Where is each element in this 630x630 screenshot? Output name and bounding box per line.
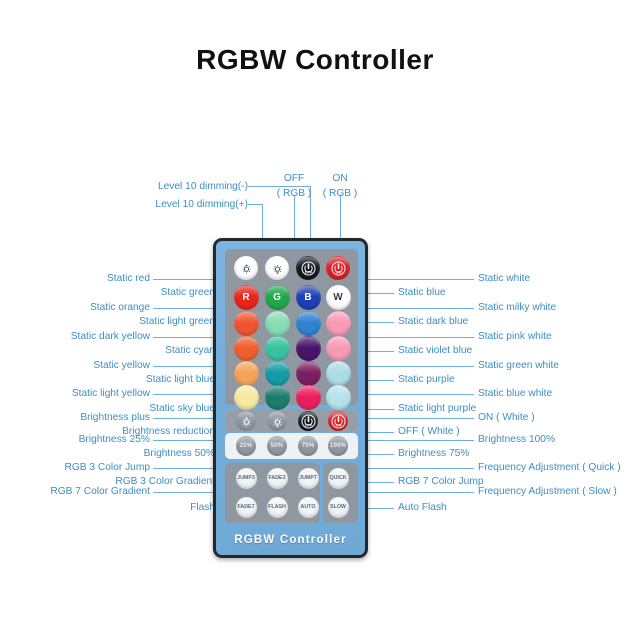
callout-static-yellow-text: Static yellow [93, 360, 150, 371]
callout-static-blue-white-text: Static blue white [478, 388, 552, 399]
callout-static-cyan-text: Static cyan [165, 345, 215, 356]
callout-frequency-quick: Frequency Adjustment ( Quick ) [478, 463, 621, 473]
btn-white-off[interactable]: OFF [298, 411, 318, 431]
callout-on-rgb-line1: ON [318, 174, 362, 184]
leader-line [366, 508, 394, 509]
leader-line [153, 394, 216, 395]
leader-line [366, 418, 474, 419]
btn-fade3[interactable]: FADE3 [267, 468, 288, 489]
callout-brightness-100-text: Brightness 100% [478, 434, 555, 445]
button-gloss [236, 337, 257, 348]
leader-line [153, 337, 216, 338]
diagram-canvas: RGBW Controller Level 10 dimming(-) Leve… [0, 0, 630, 630]
button-gloss [267, 312, 288, 323]
svg-text:OFF: OFF [304, 423, 312, 427]
callout-static-light-blue: Static light blue [0, 375, 215, 385]
btn-static-white-label: W [333, 292, 342, 303]
callout-static-dark-yellow-text: Static dark yellow [71, 331, 150, 342]
svg-text:ON: ON [335, 423, 341, 427]
leader-line [366, 293, 394, 294]
callout-static-light-blue-text: Static light blue [146, 374, 215, 385]
btn-slow-label: SLOW [330, 504, 346, 510]
callout-static-green-text: Static green [161, 287, 215, 298]
callout-rgb7-color-jump-text: RGB 7 Color Jump [398, 476, 484, 487]
callout-brightness-plus: Brightness plus [0, 413, 150, 423]
callout-brightness-100: Brightness 100% [478, 435, 555, 445]
callout-static-green: Static green [0, 288, 215, 298]
callout-static-violet-blue-text: Static violet blue [398, 345, 472, 356]
button-gloss [236, 312, 257, 323]
btn-brightness-50-label: 50% [271, 443, 284, 449]
leader-line [366, 308, 474, 309]
btn-fade7-label: FADE7 [237, 504, 254, 510]
callout-flash-text: Flash [190, 502, 215, 513]
btn-static-cyan[interactable] [265, 336, 290, 361]
btn-jump7-label: JUMP7 [299, 475, 317, 481]
btn-static-blue[interactable]: B [296, 285, 321, 310]
callout-static-blue-white: Static blue white [478, 389, 552, 399]
btn-static-green[interactable]: G [265, 285, 290, 310]
btn-brightness-plus[interactable] [236, 411, 256, 431]
button-gloss [298, 386, 319, 397]
leader-line [366, 380, 394, 381]
callout-static-milky-white-text: Static milky white [478, 302, 556, 313]
leader-line [153, 468, 216, 469]
leader-line [153, 418, 216, 419]
page-title: RGBW Controller [0, 44, 630, 76]
callout-static-light-purple: Static light purple [398, 404, 476, 414]
leader-line [366, 432, 394, 433]
callout-on-rgb: ON ( RGB ) [318, 174, 362, 199]
callout-off-white-text: OFF ( White ) [398, 426, 460, 437]
button-gloss [298, 337, 319, 348]
btn-static-light-yellow[interactable] [234, 385, 259, 410]
leader-line [366, 409, 394, 410]
btn-brightness-reduction[interactable] [267, 411, 287, 431]
callout-static-dark-yellow: Static dark yellow [0, 332, 150, 342]
button-gloss [328, 337, 349, 348]
btn-jump3[interactable]: JUMP3 [236, 468, 257, 489]
button-gloss [267, 362, 288, 373]
btn-static-violet-blue[interactable] [296, 336, 321, 361]
leader-line [366, 337, 474, 338]
callout-on-rgb-line2: ( RGB ) [318, 189, 362, 199]
callout-off-rgb-line2: ( RGB ) [272, 189, 316, 199]
remote-brand-label: RGBW Controller [216, 534, 365, 546]
callout-static-red-text: Static red [107, 273, 150, 284]
callout-static-green-white: Static green white [478, 361, 559, 371]
btn-static-white[interactable]: W [326, 285, 351, 310]
leader-line [366, 492, 474, 493]
remote-control-body: OFF ON RGBW OFF ON 25%50%75%100%JUMP3FAD… [213, 238, 368, 558]
leader-line [366, 322, 394, 323]
svg-text:ON: ON [335, 270, 341, 274]
callout-level10-dimming-minus: Level 10 dimming(-) [0, 182, 248, 192]
btn-static-pink-white[interactable] [326, 336, 351, 361]
btn-static-red-label: R [242, 292, 249, 303]
button-gloss [328, 312, 349, 323]
callout-static-sky-blue-text: Static sky blue [149, 403, 215, 414]
btn-dimming-plus[interactable] [234, 256, 258, 280]
btn-jump7[interactable]: JUMP7 [298, 468, 319, 489]
callout-static-violet-blue: Static violet blue [398, 346, 472, 356]
btn-static-blue-white[interactable] [326, 385, 351, 410]
callout-static-pink-white-text: Static pink white [478, 331, 552, 342]
callout-on-white: ON ( White ) [478, 413, 535, 423]
btn-flash-label: FLASH [268, 504, 286, 510]
callout-static-green-white-text: Static green white [478, 360, 559, 371]
callout-static-blue: Static blue [398, 288, 446, 298]
callout-off-white: OFF ( White ) [398, 427, 460, 437]
callout-frequency-slow: Frequency Adjustment ( Slow ) [478, 487, 617, 497]
leader-line [248, 204, 262, 205]
btn-static-light-blue[interactable] [265, 361, 290, 386]
callout-rgb7-color-gradient-text: RGB 7 Color Gradient [50, 486, 150, 497]
callout-static-cyan: Static cyan [0, 346, 215, 356]
callout-static-light-yellow-text: Static light yellow [72, 388, 150, 399]
callout-static-purple: Static purple [398, 375, 455, 385]
btn-static-red[interactable]: R [234, 285, 259, 310]
button-gloss [328, 386, 349, 397]
callout-frequency-slow-text: Frequency Adjustment ( Slow ) [478, 486, 617, 497]
btn-auto-label: AUTO [301, 504, 316, 510]
callout-static-light-yellow: Static light yellow [0, 389, 150, 399]
btn-static-purple[interactable] [296, 361, 321, 386]
button-gloss [236, 362, 257, 373]
callout-frequency-quick-text: Frequency Adjustment ( Quick ) [478, 462, 621, 473]
callout-brightness-25: Brightness 25% [0, 435, 150, 445]
callout-static-white: Static white [478, 274, 530, 284]
callout-rgb7-color-gradient: RGB 7 Color Gradient [0, 487, 150, 497]
btn-rgb-on[interactable]: ON [326, 256, 350, 280]
btn-brightness-50[interactable]: 50% [267, 436, 287, 456]
btn-brightness-100[interactable]: 100% [328, 436, 348, 456]
button-gloss [298, 312, 319, 323]
btn-brightness-75[interactable]: 75% [298, 436, 318, 456]
callout-static-light-green-text: Static light green [139, 316, 215, 327]
btn-static-orange[interactable] [234, 311, 259, 336]
btn-brightness-25[interactable]: 25% [236, 436, 256, 456]
callout-rgb7-color-jump: RGB 7 Color Jump [398, 477, 484, 487]
leader-line [153, 279, 216, 280]
callout-static-red: Static red [0, 274, 150, 284]
callout-brightness-50-text: Brightness 50% [144, 448, 215, 459]
callout-rgb3-color-jump: RGB 3 Color Jump [0, 463, 150, 473]
button-gloss [267, 337, 288, 348]
leader-line [153, 308, 216, 309]
btn-static-light-purple[interactable] [296, 385, 321, 410]
btn-white-on[interactable]: ON [328, 411, 348, 431]
leader-line [366, 351, 394, 352]
leader-line [153, 366, 216, 367]
btn-flash[interactable]: FLASH [267, 497, 288, 518]
callout-on-white-text: ON ( White ) [478, 412, 535, 423]
callout-brightness-plus-text: Brightness plus [80, 412, 150, 423]
callout-static-orange-text: Static orange [90, 302, 150, 313]
callout-static-yellow: Static yellow [0, 361, 150, 371]
button-gloss [298, 362, 319, 373]
callout-static-blue-text: Static blue [398, 287, 446, 298]
leader-line [366, 454, 394, 455]
btn-quick-label: QUICK [329, 475, 346, 481]
btn-static-green-white[interactable] [326, 361, 351, 386]
button-gloss [236, 386, 257, 397]
callout-brightness-50: Brightness 50% [0, 449, 215, 459]
callout-auto-flash-text: Auto Flash [398, 502, 447, 513]
callout-flash: Flash [0, 503, 215, 513]
leader-line [366, 468, 474, 469]
callout-level10-dimming-plus: Level 10 dimming(+) [0, 200, 248, 210]
callout-auto-flash: Auto Flash [398, 503, 447, 513]
btn-brightness-100-label: 100% [330, 443, 346, 449]
callout-off-rgb-line1: OFF [272, 174, 316, 184]
leader-line [366, 394, 474, 395]
btn-fade3-label: FADE3 [268, 475, 285, 481]
callout-brightness-75-text: Brightness 75% [398, 448, 469, 459]
btn-static-green-label: G [273, 292, 281, 303]
callout-static-orange: Static orange [0, 303, 150, 313]
btn-static-sky-blue[interactable] [265, 385, 290, 410]
btn-rgb-off[interactable]: OFF [296, 256, 320, 280]
btn-fade7[interactable]: FADE7 [236, 497, 257, 518]
callout-brightness-75: Brightness 75% [398, 449, 469, 459]
btn-brightness-75-label: 75% [302, 443, 315, 449]
btn-static-light-green[interactable] [265, 311, 290, 336]
leader-line [366, 440, 474, 441]
btn-dimming-minus[interactable] [265, 256, 289, 280]
callout-static-light-purple-text: Static light purple [398, 403, 476, 414]
svg-text:OFF: OFF [304, 270, 312, 274]
leader-line [366, 279, 474, 280]
leader-line [366, 366, 474, 367]
btn-static-dark-blue[interactable] [296, 311, 321, 336]
callout-off-rgb: OFF ( RGB ) [272, 174, 316, 199]
callout-rgb3-color-jump-text: RGB 3 Color Jump [65, 462, 151, 473]
callout-static-milky-white: Static milky white [478, 303, 556, 313]
btn-static-blue-label: B [304, 292, 311, 303]
button-gloss [328, 362, 349, 373]
callout-static-light-green: Static light green [0, 317, 215, 327]
callout-static-white-text: Static white [478, 273, 530, 284]
btn-auto[interactable]: AUTO [298, 497, 319, 518]
leader-line [366, 482, 394, 483]
btn-slow[interactable]: SLOW [328, 497, 349, 518]
leader-line [153, 492, 216, 493]
callout-static-dark-blue: Static dark blue [398, 317, 468, 327]
callout-static-dark-blue-text: Static dark blue [398, 316, 468, 327]
callout-brightness-25-text: Brightness 25% [79, 434, 150, 445]
callout-static-purple-text: Static purple [398, 374, 455, 385]
btn-jump3-label: JUMP3 [237, 475, 255, 481]
btn-brightness-25-label: 25% [240, 443, 253, 449]
btn-static-milky-white[interactable] [326, 311, 351, 336]
btn-quick[interactable]: QUICK [328, 468, 349, 489]
leader-line [153, 440, 216, 441]
btn-static-yellow[interactable] [234, 361, 259, 386]
button-gloss [267, 386, 288, 397]
btn-static-dark-yellow[interactable] [234, 336, 259, 361]
callout-static-pink-white: Static pink white [478, 332, 552, 342]
